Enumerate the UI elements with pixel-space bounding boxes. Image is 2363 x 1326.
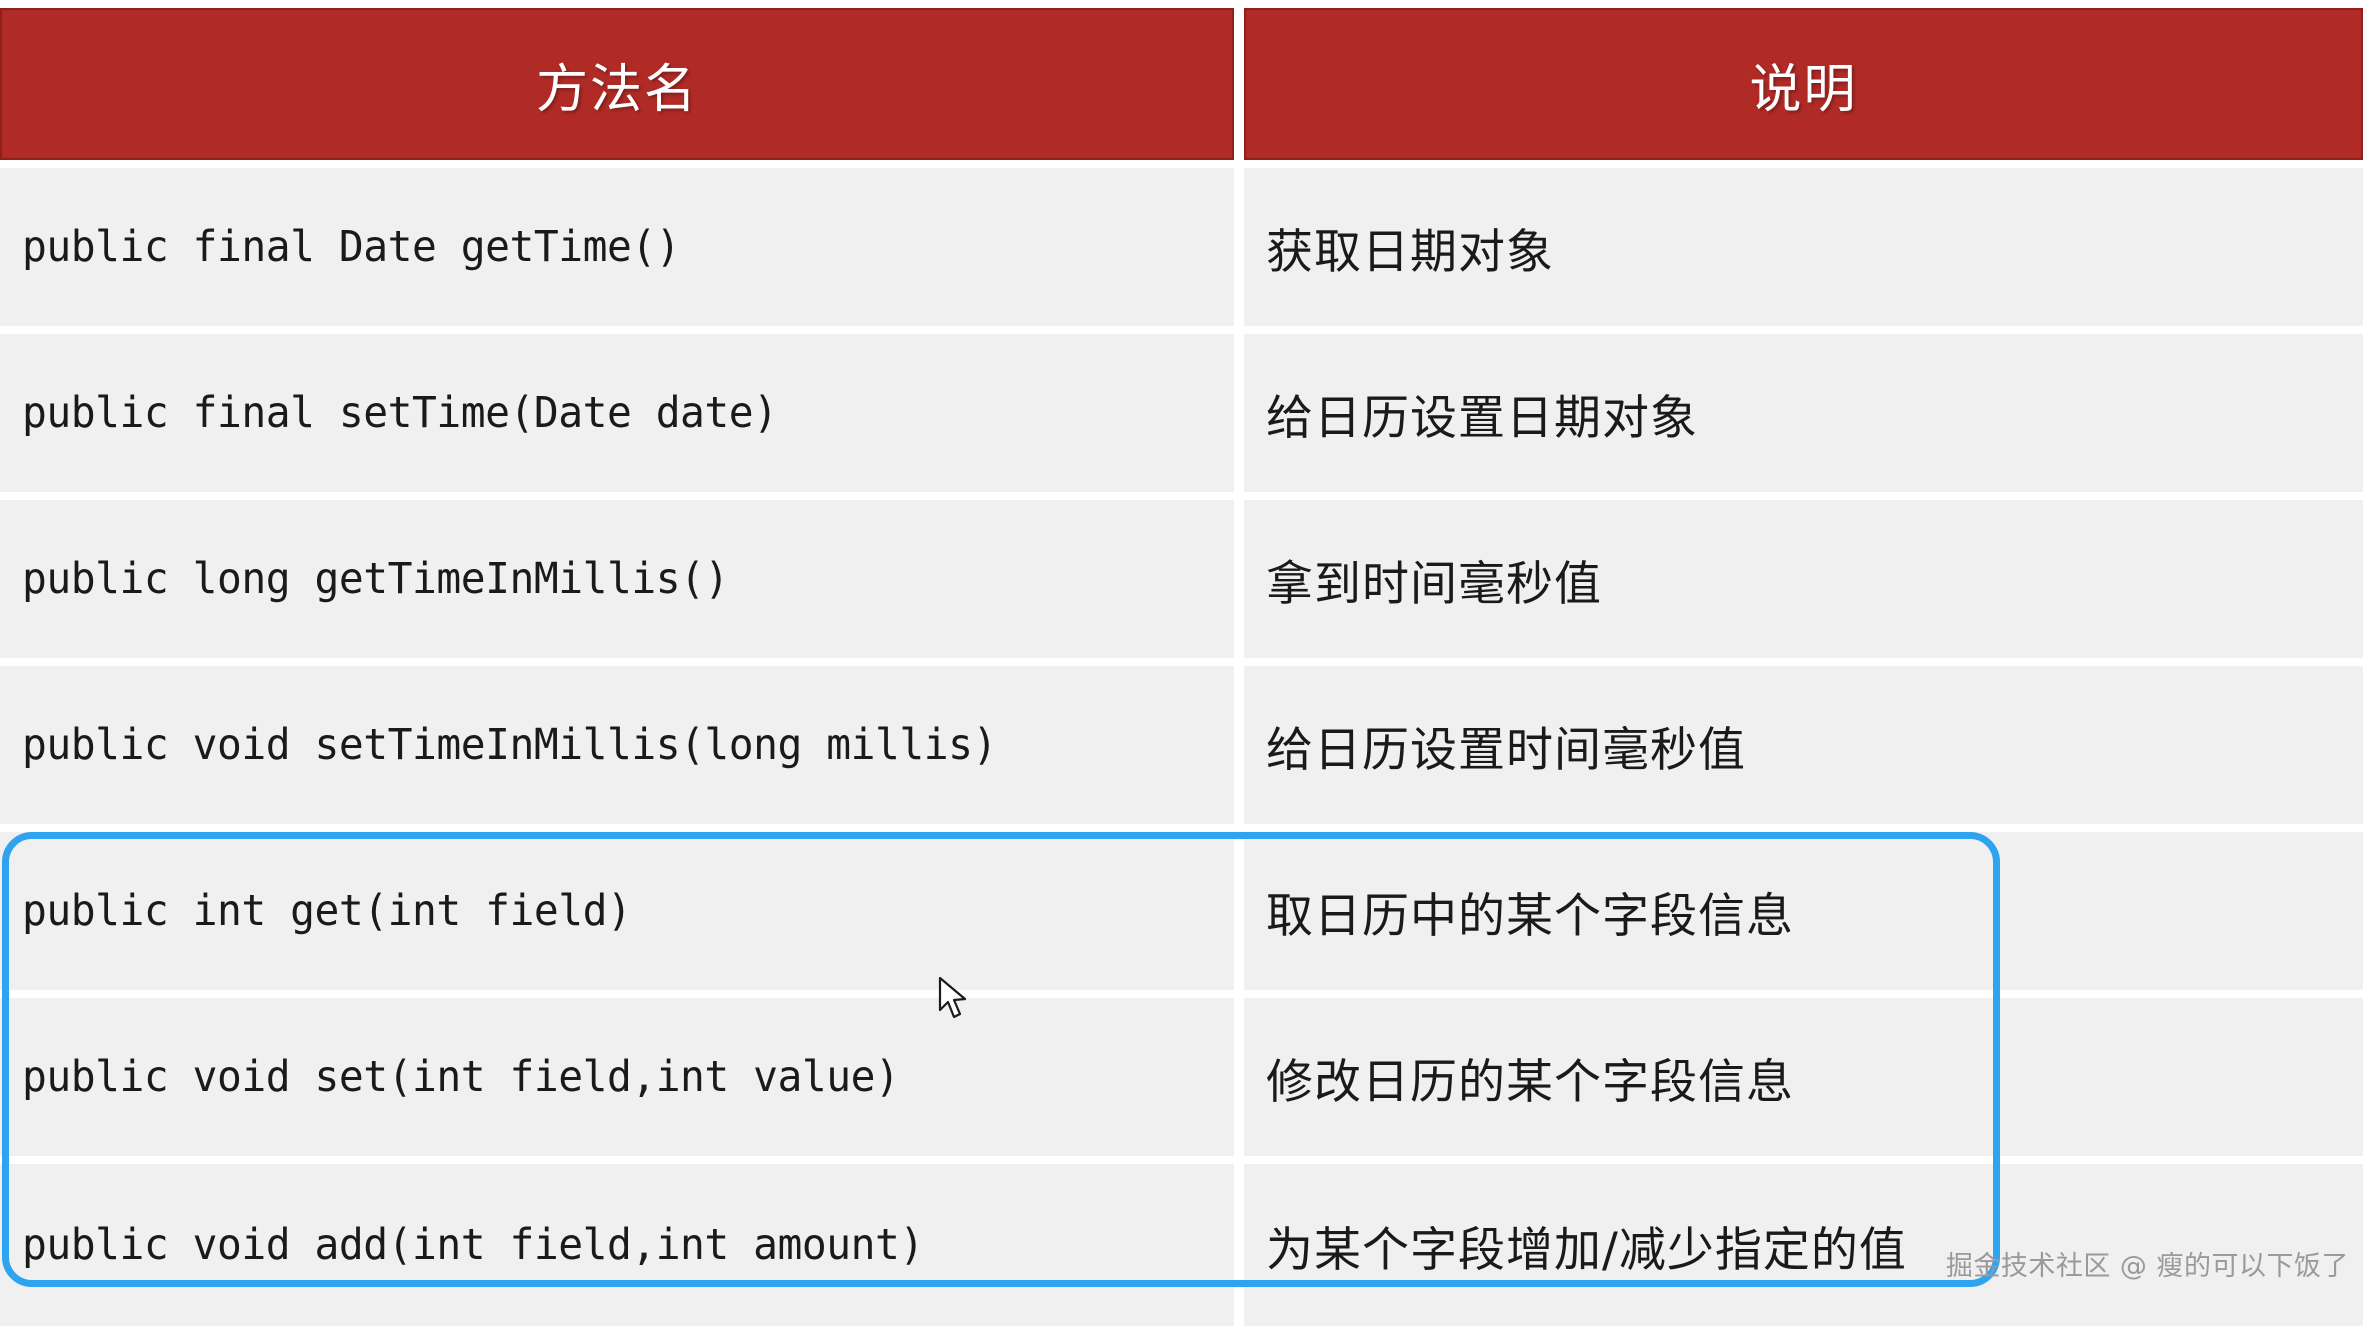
method-description: 拿到时间毫秒值	[1266, 545, 1602, 614]
method-signature: public void setTimeInMillis(long millis)	[22, 720, 997, 770]
table-cell-method: public void add(int field,int amount)	[0, 1164, 1234, 1326]
method-signature: public long getTimeInMillis()	[22, 554, 729, 604]
column-header-method-name-label: 方法名	[536, 47, 698, 122]
column-header-method-name: 方法名	[0, 8, 1234, 160]
method-description: 为某个字段增加/减少指定的值	[1266, 1211, 1907, 1280]
mouse-pointer-icon	[938, 977, 970, 1021]
column-divider	[1234, 832, 1244, 990]
table-cell-description: 给日历设置时间毫秒值	[1244, 666, 2363, 824]
screenshot-canvas: 方法名 说明 public final Date getTime() 获取日期对…	[0, 0, 2363, 1295]
table-row: public long getTimeInMillis() 拿到时间毫秒值	[0, 500, 2363, 658]
table-header-row: 方法名 说明	[0, 0, 2363, 160]
table-cell-description: 取日历中的某个字段信息	[1244, 832, 2363, 990]
method-signature: public final setTime(Date date)	[22, 388, 778, 438]
row-divider	[0, 658, 2363, 666]
column-header-description: 说明	[1244, 8, 2363, 160]
column-divider	[1234, 168, 1244, 326]
column-divider	[1234, 334, 1244, 492]
table-row: public final setTime(Date date) 给日历设置日期对…	[0, 334, 2363, 492]
method-description: 获取日期对象	[1266, 213, 1554, 282]
row-divider	[0, 824, 2363, 832]
method-description: 修改日历的某个字段信息	[1266, 1043, 1794, 1112]
method-signature: public final Date getTime()	[22, 222, 680, 272]
column-divider	[1234, 1164, 1244, 1326]
row-divider	[0, 990, 2363, 998]
method-signature: public void set(int field,int value)	[22, 1052, 899, 1102]
row-divider	[0, 326, 2363, 334]
table-cell-method: public final setTime(Date date)	[0, 334, 1234, 492]
table-cell-method: public void set(int field,int value)	[0, 998, 1234, 1156]
method-description: 给日历设置日期对象	[1266, 379, 1698, 448]
table-row: public void setTimeInMillis(long millis)…	[0, 666, 2363, 824]
table-row: public void set(int field,int value) 修改日…	[0, 998, 2363, 1156]
table-row: public int get(int field) 取日历中的某个字段信息	[0, 832, 2363, 990]
calendar-methods-table: 方法名 说明 public final Date getTime() 获取日期对…	[0, 0, 2363, 1326]
method-signature: public void add(int field,int amount)	[22, 1220, 924, 1270]
table-cell-description: 给日历设置日期对象	[1244, 334, 2363, 492]
column-divider	[1234, 998, 1244, 1156]
table-cell-method: public void setTimeInMillis(long millis)	[0, 666, 1234, 824]
method-description: 取日历中的某个字段信息	[1266, 877, 1794, 946]
method-description: 给日历设置时间毫秒值	[1266, 711, 1746, 780]
header-column-divider	[1234, 8, 1244, 160]
table-cell-method: public int get(int field)	[0, 832, 1234, 990]
table-cell-description: 修改日历的某个字段信息	[1244, 998, 2363, 1156]
method-signature: public int get(int field)	[22, 886, 631, 936]
row-divider	[0, 1156, 2363, 1164]
column-divider	[1234, 666, 1244, 824]
row-divider	[0, 160, 2363, 168]
table-row: public final Date getTime() 获取日期对象	[0, 168, 2363, 326]
table-cell-method: public final Date getTime()	[0, 168, 1234, 326]
column-header-description-label: 说明	[1749, 47, 1857, 122]
row-divider	[0, 492, 2363, 500]
table-cell-description: 拿到时间毫秒值	[1244, 500, 2363, 658]
table-cell-description: 获取日期对象	[1244, 168, 2363, 326]
column-divider	[1234, 500, 1244, 658]
watermark-text: 掘金技术社区 @ 瘦的可以下饭了	[1946, 1244, 2349, 1283]
table-cell-method: public long getTimeInMillis()	[0, 500, 1234, 658]
